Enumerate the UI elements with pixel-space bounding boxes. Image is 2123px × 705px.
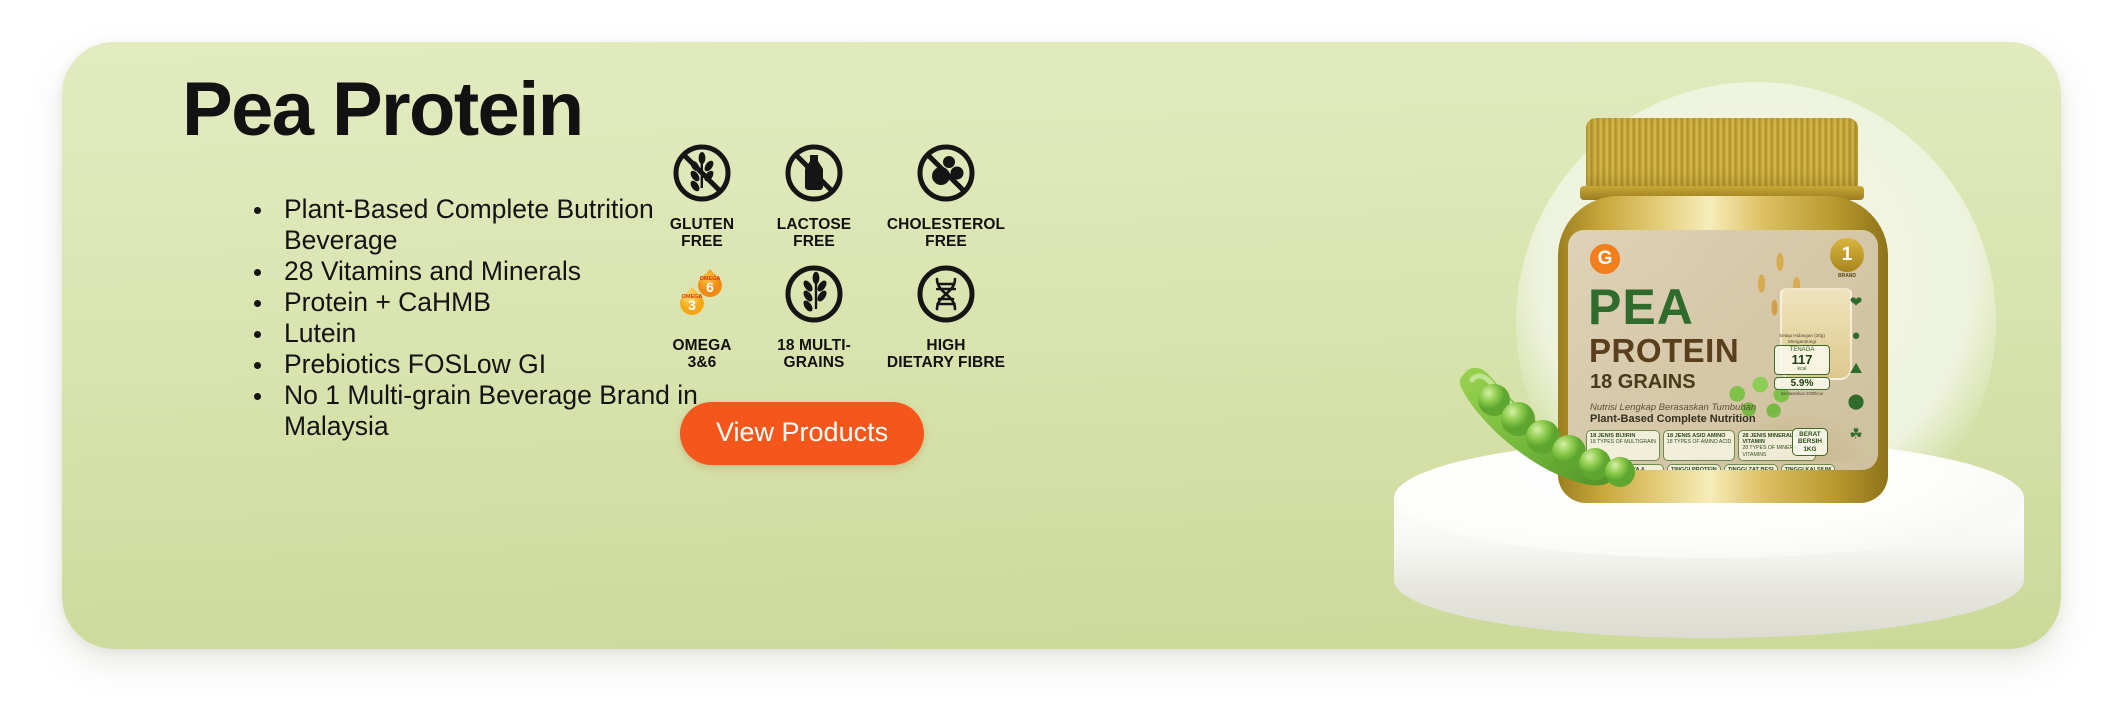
heart-pulse-icon: ❤	[1846, 292, 1866, 312]
rank-badge-label: BRAND	[1830, 273, 1864, 279]
view-products-button[interactable]: View Products	[680, 402, 924, 465]
svg-text:3: 3	[688, 297, 696, 313]
feature-badge-label: 18 MULTI- GRAINS	[764, 337, 864, 371]
jar-lid	[1586, 118, 1858, 190]
feature-badge-label: OMEGA 3&6	[652, 337, 752, 371]
energy-unit: kcal	[1775, 366, 1829, 372]
label-claim: TINGGI ZAT BESIHIGH IN IRON	[1724, 464, 1778, 470]
no-lactose-icon	[764, 137, 864, 209]
feature-badge-grid: GLUTEN FREE LACTOSE FREE	[652, 137, 1072, 371]
feature-badge-multigrains: 18 MULTI- GRAINS	[764, 258, 864, 371]
feature-badge-label: LACTOSE FREE	[764, 216, 864, 250]
energy-percent: 5.9%	[1774, 377, 1830, 390]
label-benefit-icons: ❤ ● ⛰ ⬤ ☘	[1846, 292, 1866, 444]
feature-badge-label: CHOLESTEROL FREE	[876, 216, 1016, 250]
droplet-icon: ⬤	[1846, 391, 1866, 411]
svg-text:6: 6	[706, 279, 714, 295]
page-title: Pea Protein	[182, 72, 583, 148]
label-claim: TINGGI KALSIUMHIGH IN CALCIUM	[1781, 464, 1835, 470]
energy-badge: Setiap Hidangan (30g) Mengandungi TENAGA…	[1774, 333, 1830, 396]
feature-badge-lactose-free: LACTOSE FREE	[764, 137, 864, 250]
feature-badge-omega: OMEGA 6 OMEGA 3 OMEGA 3&6	[652, 258, 752, 371]
peas-icon: ●	[1846, 325, 1866, 345]
no-gluten-icon	[652, 137, 752, 209]
label-name-pea: PEA	[1588, 282, 1694, 332]
wheat-grains-icon	[764, 258, 864, 330]
omega-droplets-icon: OMEGA 6 OMEGA 3	[652, 258, 752, 330]
product-hero-scene: G PEA PROTEIN 18 GRAINS Nutrisi Lengkap …	[1380, 40, 2123, 705]
energy-footnote: Berdasarkan 2000kcal	[1774, 391, 1830, 396]
wheat-icon: ☘	[1846, 424, 1866, 444]
net-weight-badge: BERAT BERSIH 1KG	[1792, 428, 1828, 456]
feature-badge-label: GLUTEN FREE	[652, 216, 752, 250]
energy-value: 117	[1775, 353, 1829, 366]
plant-sprout-icon: ⛰	[1846, 358, 1866, 378]
feature-badge-dietary-fibre: HIGH DIETARY FIBRE	[876, 258, 1016, 371]
promo-banner-page: Pea Protein Plant-Based Complete Butriti…	[0, 0, 2123, 705]
rank-badge-number: 1	[1830, 238, 1864, 272]
energy-prefix: Setiap Hidangan (30g) Mengandungi	[1774, 333, 1830, 344]
feature-badge-label: HIGH DIETARY FIBRE	[876, 337, 1016, 371]
feature-badge-gluten-free: GLUTEN FREE	[652, 137, 752, 250]
brand-sun-icon: G	[1590, 244, 1620, 274]
no-cholesterol-icon	[876, 137, 1016, 209]
pea-pod-illustration	[1450, 358, 1680, 518]
rank-badge: 1 BRAND	[1830, 238, 1864, 282]
feature-badge-cholesterol-free: CHOLESTEROL FREE	[876, 137, 1016, 250]
dna-fibre-icon	[876, 258, 1016, 330]
